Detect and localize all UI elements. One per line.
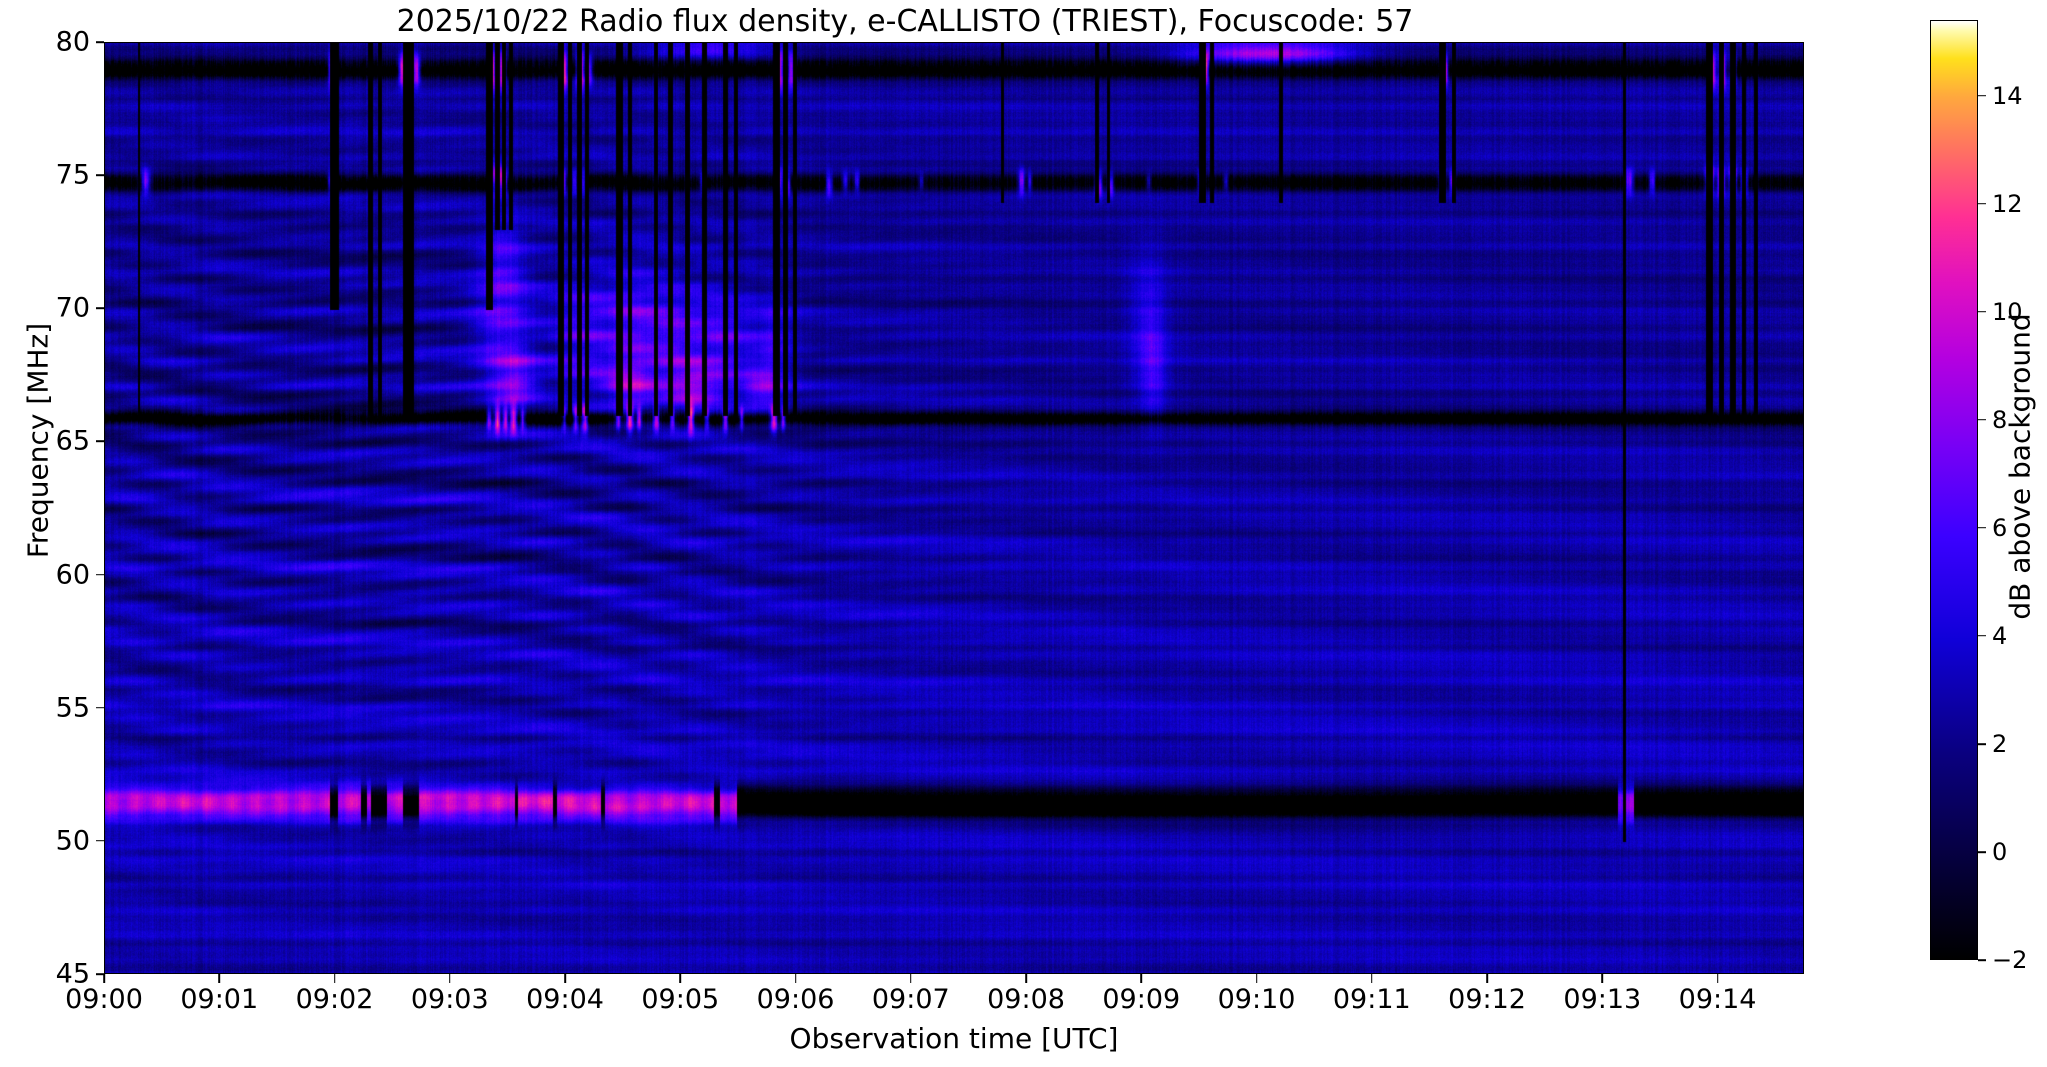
colorbar: −202468101214 dB above background — [1930, 20, 2047, 960]
colorbar-tick-mark — [1978, 743, 1986, 745]
x-tick-mark — [795, 974, 797, 983]
x-tick-mark — [218, 974, 220, 983]
x-tick-mark — [1717, 974, 1719, 983]
x-tick-mark — [564, 974, 566, 983]
x-tick-mark — [679, 974, 681, 983]
x-tick-label: 09:03 — [411, 984, 489, 1015]
x-tick-label: 09:00 — [65, 984, 143, 1015]
x-tick-label: 09:01 — [180, 984, 258, 1015]
x-tick-mark — [1602, 974, 1604, 983]
colorbar-tick-mark — [1978, 851, 1986, 853]
x-tick-label: 09:11 — [1333, 984, 1411, 1015]
colorbar-tick-mark — [1978, 527, 1986, 529]
x-tick-mark — [1486, 974, 1488, 983]
x-tick-mark — [103, 974, 105, 983]
colorbar-tick-label: −2 — [1992, 946, 2027, 974]
x-tick-mark — [1256, 974, 1258, 983]
colorbar-gradient-box — [1930, 20, 1978, 960]
x-tick-label: 09:12 — [1448, 984, 1526, 1015]
colorbar-tick-label: 12 — [1992, 190, 2023, 218]
colorbar-tick-label: 2 — [1992, 730, 2007, 758]
colorbar-tick-label: 14 — [1992, 82, 2023, 110]
x-tick-label: 09:14 — [1679, 984, 1757, 1015]
x-tick-mark — [449, 974, 451, 983]
x-tick-label: 09:04 — [526, 984, 604, 1015]
colorbar-tick-mark — [1978, 203, 1986, 205]
x-tick-label: 09:10 — [1218, 984, 1296, 1015]
x-tick-label: 09:02 — [296, 984, 374, 1015]
colorbar-tick-mark — [1978, 419, 1986, 421]
x-tick-mark — [1140, 974, 1142, 983]
x-tick-label: 09:05 — [641, 984, 719, 1015]
colorbar-tick-label: 0 — [1992, 838, 2007, 866]
x-tick-mark — [334, 974, 336, 983]
colorbar-tick-mark — [1978, 959, 1986, 961]
x-tick-label: 09:08 — [987, 984, 1065, 1015]
colorbar-gradient — [1931, 21, 1977, 959]
x-axis-ticks: 09:0009:0109:0209:0309:0409:0509:0609:07… — [0, 0, 2047, 1067]
colorbar-tick-mark — [1978, 635, 1986, 637]
x-tick-label: 09:13 — [1563, 984, 1641, 1015]
x-tick-label: 09:09 — [1102, 984, 1180, 1015]
x-tick-label: 09:06 — [757, 984, 835, 1015]
x-tick-mark — [910, 974, 912, 983]
x-axis-label: Observation time [UTC] — [104, 1022, 1804, 1055]
colorbar-tick-mark — [1978, 95, 1986, 97]
x-tick-mark — [1025, 974, 1027, 983]
x-tick-label: 09:07 — [872, 984, 950, 1015]
colorbar-label: dB above background — [2004, 227, 2037, 707]
x-tick-mark — [1371, 974, 1373, 983]
figure-root: 2025/10/22 Radio flux density, e-CALLIST… — [0, 0, 2047, 1067]
colorbar-tick-mark — [1978, 311, 1986, 313]
